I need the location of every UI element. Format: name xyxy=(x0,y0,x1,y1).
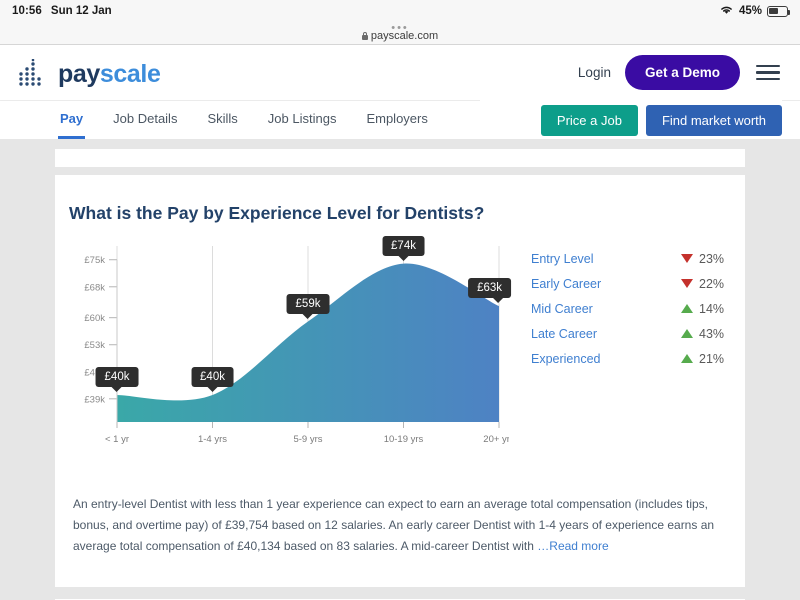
page-title: What is the Pay by Experience Level for … xyxy=(69,203,731,224)
card-partial-above xyxy=(55,149,745,167)
svg-text:20+ yrs: 20+ yrs xyxy=(483,434,509,445)
legend-label-early-career: Early Career xyxy=(531,277,601,291)
tab-list: Pay Job Details Skills Job Listings Empl… xyxy=(58,101,430,139)
svg-text:£68k: £68k xyxy=(84,282,105,293)
trend-up-icon xyxy=(681,354,693,363)
hamburger-menu-icon[interactable] xyxy=(754,61,782,85)
chart-value-tooltip: £40k xyxy=(191,367,234,387)
get-a-demo-button[interactable]: Get a Demo xyxy=(625,55,740,90)
trend-down-icon xyxy=(681,254,693,263)
battery-percent: 45% xyxy=(739,5,762,17)
svg-text:5-9 yrs: 5-9 yrs xyxy=(293,434,322,445)
status-date: Sun 12 Jan xyxy=(51,5,112,17)
svg-text:< 1 yr: < 1 yr xyxy=(105,434,129,445)
tab-pay[interactable]: Pay xyxy=(58,101,85,139)
chart-value-tooltip: £74k xyxy=(382,236,425,256)
tab-job-details[interactable]: Job Details xyxy=(111,101,179,139)
battery-icon xyxy=(767,6,788,17)
trend-down-icon xyxy=(681,279,693,288)
lock-icon xyxy=(362,32,368,40)
more-dots-icon: ••• xyxy=(0,24,800,33)
legend-label-entry-level: Entry Level xyxy=(531,252,594,266)
legend-pct-mid-career: 14% xyxy=(699,302,729,316)
chart-svg: £75k£68k£60k£53k£46k£39k < 1 yr1-4 yrs5-… xyxy=(69,238,509,458)
legend-pct-entry-level: 23% xyxy=(699,252,729,266)
status-right-cluster: 45% xyxy=(719,4,788,18)
svg-text:£75k: £75k xyxy=(84,255,105,266)
description-body: An entry-level Dentist with less than 1 … xyxy=(73,497,714,553)
chart-value-tooltip: £63k xyxy=(468,278,511,298)
legend-label-late-career: Late Career xyxy=(531,327,597,341)
legend-row[interactable]: Experienced 21% xyxy=(531,346,729,371)
login-link[interactable]: Login xyxy=(578,65,611,80)
read-more-link[interactable]: …Read more xyxy=(537,539,608,553)
tab-employers[interactable]: Employers xyxy=(364,101,429,139)
pay-experience-area-chart[interactable]: £75k£68k£60k£53k£46k£39k < 1 yr1-4 yrs5-… xyxy=(69,238,509,458)
site-header: payscale Login Get a Demo xyxy=(0,45,800,101)
svg-text:1-4 yrs: 1-4 yrs xyxy=(198,434,227,445)
chart-value-tooltip: £59k xyxy=(287,294,330,314)
legend-label-mid-career: Mid Career xyxy=(531,302,593,316)
trend-up-icon xyxy=(681,329,693,338)
legend-pct-early-career: 22% xyxy=(699,277,729,291)
logo-dot-matrix-icon xyxy=(18,59,52,87)
legend-label-experienced: Experienced xyxy=(531,352,601,366)
experience-legend: Entry Level 23% Early Career 22% Mid Car… xyxy=(509,238,729,458)
svg-text:£39k: £39k xyxy=(84,394,105,405)
chart-value-tooltip: £40k xyxy=(96,367,139,387)
legend-row[interactable]: Late Career 43% xyxy=(531,321,729,346)
legend-pct-experienced: 21% xyxy=(699,352,729,366)
svg-text:10-19 yrs: 10-19 yrs xyxy=(384,434,424,445)
ios-status-bar: 10:56 Sun 12 Jan 45% xyxy=(0,0,800,22)
legend-row[interactable]: Entry Level 23% xyxy=(531,246,729,271)
price-a-job-button[interactable]: Price a Job xyxy=(541,105,638,136)
section-tab-bar: Pay Job Details Skills Job Listings Empl… xyxy=(0,101,800,139)
browser-url-bar[interactable]: ••• payscale.com xyxy=(0,22,800,45)
legend-row[interactable]: Early Career 22% xyxy=(531,271,729,296)
wifi-icon xyxy=(719,4,734,18)
tab-job-listings[interactable]: Job Listings xyxy=(266,101,339,139)
svg-text:£53k: £53k xyxy=(84,340,105,351)
logo-text-scale: scale xyxy=(100,60,161,88)
svg-text:£60k: £60k xyxy=(84,313,105,324)
job-description-text: An entry-level Dentist with less than 1 … xyxy=(69,494,731,557)
tab-skills[interactable]: Skills xyxy=(205,101,239,139)
payscale-logo[interactable]: payscale xyxy=(18,59,160,87)
logo-text-pay: pay xyxy=(58,60,100,88)
legend-row[interactable]: Mid Career 14% xyxy=(531,296,729,321)
trend-up-icon xyxy=(681,304,693,313)
find-market-worth-button[interactable]: Find market worth xyxy=(646,105,782,136)
pay-by-experience-card: What is the Pay by Experience Level for … xyxy=(55,175,745,587)
legend-pct-late-career: 43% xyxy=(699,327,729,341)
status-time: 10:56 xyxy=(12,5,42,17)
page-body: What is the Pay by Experience Level for … xyxy=(0,139,800,600)
